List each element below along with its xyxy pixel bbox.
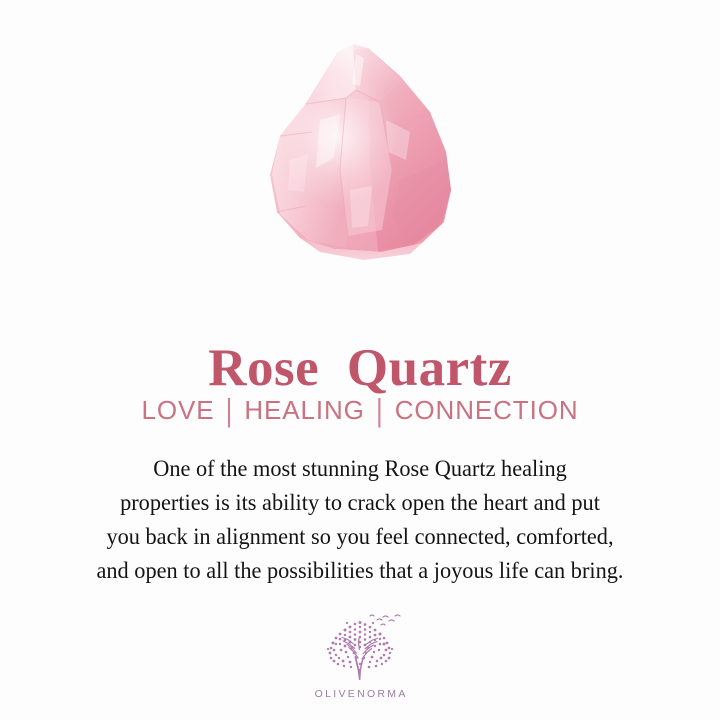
keyword-healing: HEALING: [244, 395, 364, 425]
keyword-connection: CONNECTION: [395, 395, 579, 425]
crystal-image-container: [0, 0, 720, 290]
tree-foliage: [327, 621, 393, 668]
description-line: properties is its ability to crack open …: [18, 486, 702, 520]
tree-with-birds-icon: [317, 612, 403, 686]
keyword-separator-1: |: [223, 390, 237, 429]
keyword-separator-2: |: [373, 390, 387, 429]
keyword-love: LOVE: [141, 395, 214, 425]
description-line: you back in alignment so you feel connec…: [18, 520, 702, 554]
page-title: Rose Quartz: [0, 339, 720, 397]
brand-wordmark: OLIVENORMA: [312, 688, 407, 700]
keyword-subtitle: LOVE | HEALING | CONNECTION: [0, 394, 720, 426]
birds-icon: [370, 615, 400, 625]
description-paragraph: One of the most stunning Rose Quartz hea…: [0, 452, 720, 588]
rose-quartz-crystal-image: [260, 40, 460, 265]
description-line: One of the most stunning Rose Quartz hea…: [18, 452, 702, 486]
rose-quartz-info-card: Rose Quartz LOVE | HEALING | CONNECTION …: [0, 0, 720, 720]
description-line: and open to all the possibilities that a…: [18, 554, 702, 588]
brand-logo: OLIVENORMA: [0, 612, 720, 700]
